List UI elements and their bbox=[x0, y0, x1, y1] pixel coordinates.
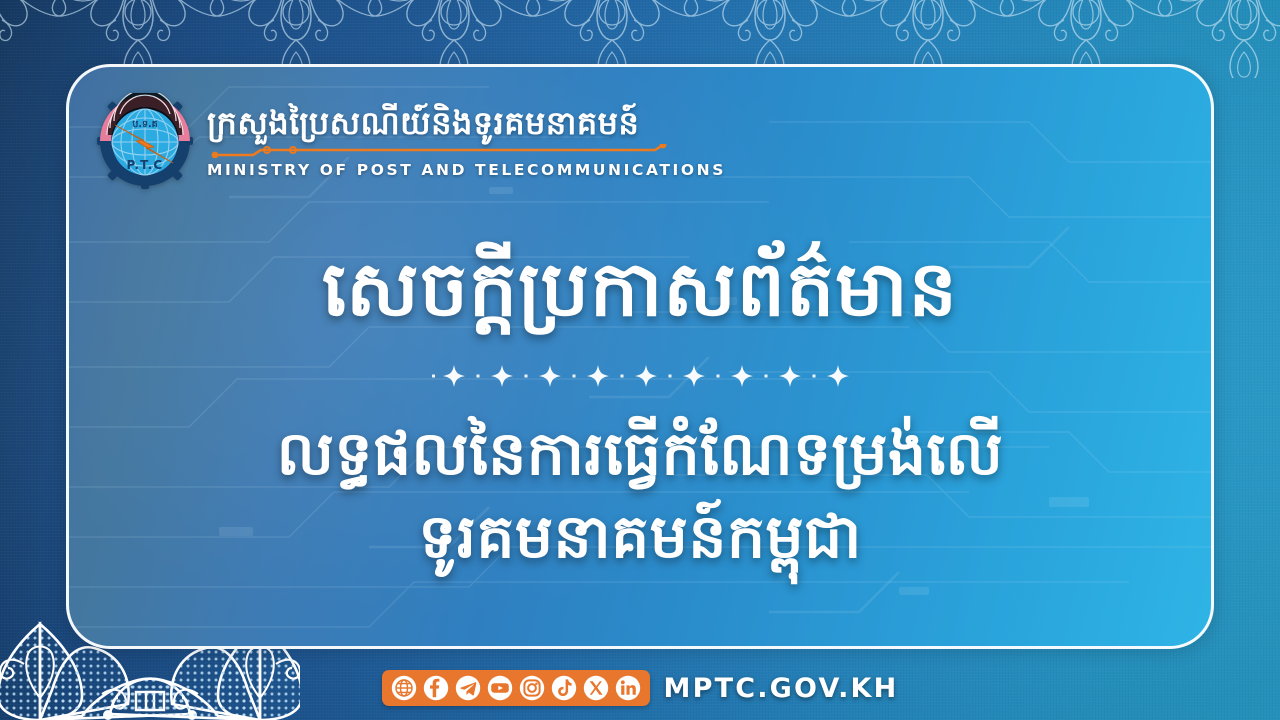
mptc-emblem-icon: ប.ទ.គ P.T.C bbox=[97, 93, 193, 189]
orange-circuit-line-icon bbox=[207, 143, 726, 162]
ministry-name-en: MINISTRY OF POST AND TELECOMMUNICATIONS bbox=[207, 163, 726, 179]
subtitle-line-2: ទូរគមនាគមន៍កម្ពុជា bbox=[129, 496, 1151, 579]
sparkle-divider-ornament bbox=[69, 363, 1211, 389]
tiktok-icon[interactable] bbox=[551, 675, 577, 701]
banner-stage: ប.ទ.គ P.T.C ក្រសួងប្រៃសណីយ៍និងទូរគមនាគមន… bbox=[0, 0, 1280, 720]
social-links-pill bbox=[382, 670, 650, 706]
page-title: សេចក្តីប្រកាសព័ត៌មាន bbox=[69, 241, 1211, 336]
website-globe-icon[interactable] bbox=[391, 675, 417, 701]
youtube-icon[interactable] bbox=[487, 675, 513, 701]
website-url[interactable]: MPTC.GOV.KH bbox=[664, 673, 899, 704]
telegram-icon[interactable] bbox=[455, 675, 481, 701]
card-header: ប.ទ.គ P.T.C ក្រសួងប្រៃសណីយ៍និងទូរគមនាគមន… bbox=[97, 93, 726, 189]
facebook-icon[interactable] bbox=[423, 675, 449, 701]
x-twitter-icon[interactable] bbox=[583, 675, 609, 701]
subtitle-line-1: លទ្ធផលនៃការធ្វើកំណែទម្រង់លើ bbox=[129, 413, 1151, 496]
linkedin-icon[interactable] bbox=[615, 675, 641, 701]
logo-bottom-text: P.T.C bbox=[127, 158, 164, 172]
ministry-name-block: ក្រសួងប្រៃសណីយ៍និងទូរគមនាគមន៍ MINISTRY O… bbox=[207, 103, 726, 178]
logo-top-text: ប.ទ.គ bbox=[132, 119, 157, 130]
subtitle: លទ្ធផលនៃការធ្វើកំណែទម្រង់លើ ទូរគមនាគមន៍ក… bbox=[129, 413, 1151, 579]
ministry-name-kh: ក្រសួងប្រៃសណីយ៍និងទូរគមនាគមន៍ bbox=[207, 107, 726, 141]
instagram-icon[interactable] bbox=[519, 675, 545, 701]
announcement-card: ប.ទ.គ P.T.C ក្រសួងប្រៃសណីយ៍និងទូរគមនាគមន… bbox=[66, 64, 1214, 649]
footer-bar: MPTC.GOV.KH bbox=[0, 670, 1280, 706]
